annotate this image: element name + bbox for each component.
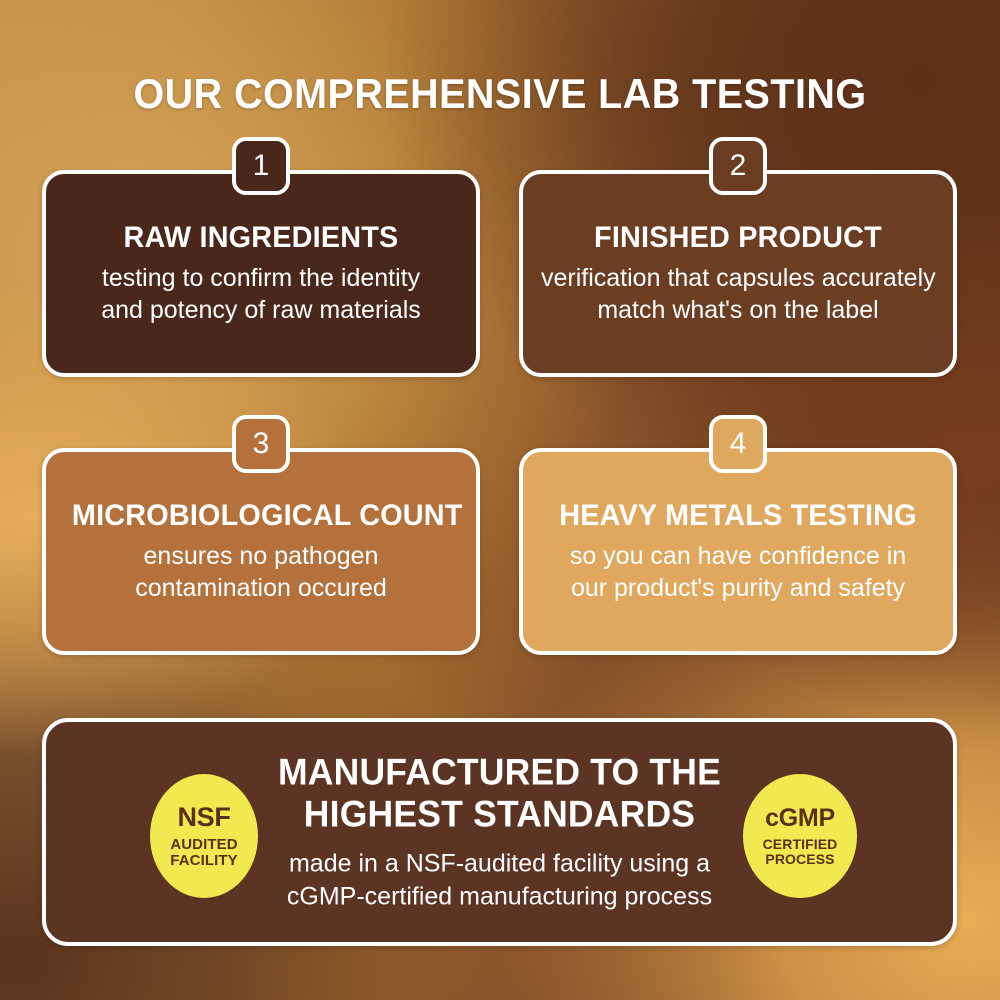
step-number-badge-2: 2 — [709, 137, 767, 195]
manufacturing-heading-line-1: MANUFACTURED TO THE — [256, 751, 743, 793]
step-card-1-body: testing to confirm the identity and pote… — [64, 263, 458, 326]
step-number-badge-1: 1 — [232, 137, 290, 195]
cgmp-seal-name: cGMP — [765, 805, 835, 832]
nsf-seal-line-1: AUDITED — [170, 837, 237, 853]
step-card-3-content: MICROBIOLOGICAL COUNT ensures no pathoge… — [46, 499, 476, 605]
manufacturing-standards-body: made in a NSF-audited facility using a c… — [246, 848, 753, 913]
step-card-1: 1 RAW INGREDIENTS testing to confirm the… — [42, 170, 480, 377]
step-card-2-heading: FINISHED PRODUCT — [549, 221, 927, 255]
step-card-4-body: so you can have confidence in our produc… — [541, 541, 935, 604]
manufacturing-body-line-1: made in a NSF-audited facility using a — [246, 848, 753, 881]
step-number-badge-4: 4 — [709, 415, 767, 473]
step-card-4-body-line-2: our product's purity and safety — [541, 573, 935, 605]
step-card-3-body: ensures no pathogen contamination occure… — [64, 541, 458, 604]
step-card-3-heading: MICROBIOLOGICAL COUNT — [72, 499, 450, 533]
step-card-1-body-line-2: and potency of raw materials — [64, 295, 458, 327]
step-card-1-body-line-1: testing to confirm the identity — [64, 263, 458, 295]
step-number-badge-3: 3 — [232, 415, 290, 473]
nsf-seal-line-2: FACILITY — [170, 853, 237, 869]
nsf-seal-name: NSF — [177, 803, 230, 832]
step-card-2-content: FINISHED PRODUCT verification that capsu… — [523, 221, 953, 327]
cgmp-seal-line-2: PROCESS — [765, 852, 834, 867]
page-title: OUR COMPREHENSIVE LAB TESTING — [30, 72, 970, 116]
step-card-1-heading: RAW INGREDIENTS — [72, 221, 450, 255]
cgmp-seal-line-1: CERTIFIED — [763, 837, 838, 852]
cgmp-seal-badge: cGMP CERTIFIED PROCESS — [743, 774, 857, 898]
manufacturing-standards-heading: MANUFACTURED TO THE HIGHEST STANDARDS — [256, 751, 743, 835]
manufacturing-body-line-2: cGMP-certified manufacturing process — [246, 880, 753, 913]
step-card-2-body: verification that capsules accurately ma… — [541, 263, 935, 326]
nsf-seal-badge: NSF AUDITED FACILITY — [150, 774, 258, 898]
manufacturing-standards-content: MANUFACTURED TO THE HIGHEST STANDARDS ma… — [246, 751, 753, 912]
step-card-4-heading: HEAVY METALS TESTING — [549, 499, 927, 533]
step-card-1-content: RAW INGREDIENTS testing to confirm the i… — [46, 221, 476, 327]
step-card-4-body-line-1: so you can have confidence in — [541, 541, 935, 573]
step-card-3-body-line-2: contamination occured — [64, 573, 458, 605]
step-card-2: 2 FINISHED PRODUCT verification that cap… — [519, 170, 957, 377]
step-card-2-body-line-2: match what's on the label — [541, 295, 935, 327]
manufacturing-heading-line-2: HIGHEST STANDARDS — [256, 794, 743, 836]
manufacturing-standards-card: NSF AUDITED FACILITY MANUFACTURED TO THE… — [42, 718, 957, 946]
step-card-2-body-line-1: verification that capsules accurately — [541, 263, 935, 295]
step-card-4-content: HEAVY METALS TESTING so you can have con… — [523, 499, 953, 605]
step-card-4: 4 HEAVY METALS TESTING so you can have c… — [519, 448, 957, 655]
step-card-3-body-line-1: ensures no pathogen — [64, 541, 458, 573]
lab-testing-infographic: OUR COMPREHENSIVE LAB TESTING 1 RAW INGR… — [0, 0, 1000, 1000]
step-card-3: 3 MICROBIOLOGICAL COUNT ensures no patho… — [42, 448, 480, 655]
